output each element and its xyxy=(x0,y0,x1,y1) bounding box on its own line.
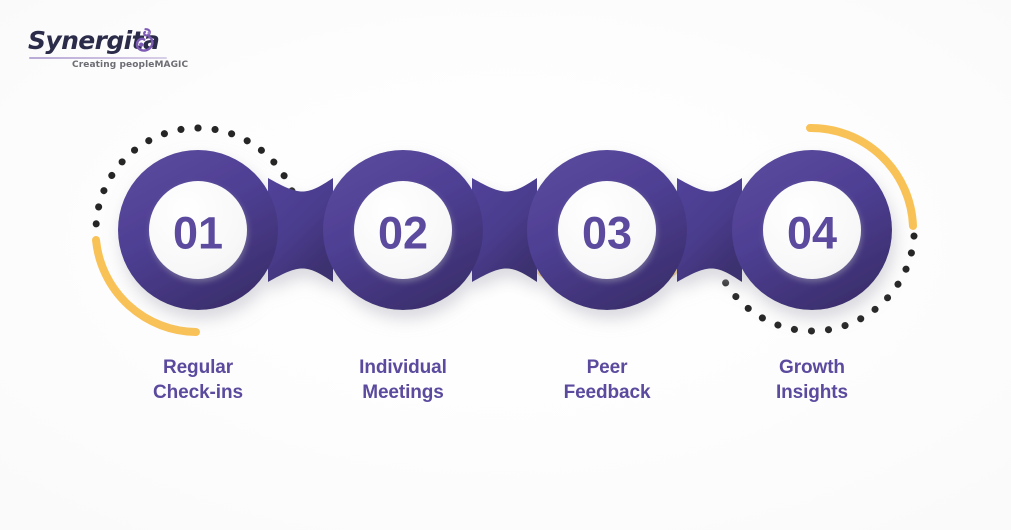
step-label-1-line1: Regular xyxy=(163,357,233,378)
step-label-2-line2: Meetings xyxy=(308,380,498,405)
step-label-2-line1: Individual xyxy=(359,357,447,378)
step-label-2: Individual Meetings xyxy=(308,355,498,405)
step-number-4: 04 xyxy=(787,208,837,259)
step-number-3: 03 xyxy=(582,208,632,259)
step-number-1: 01 xyxy=(173,208,223,259)
step-label-4-line1: Growth xyxy=(779,357,845,378)
step-label-1: Regular Check-ins xyxy=(103,355,293,405)
step-label-3-line1: Peer xyxy=(587,357,628,378)
step-label-4: Growth Insights xyxy=(717,355,907,405)
step-label-1-line2: Check-ins xyxy=(103,380,293,405)
step-label-4-line2: Insights xyxy=(717,380,907,405)
step-label-3: Peer Feedback xyxy=(512,355,702,405)
process-steps-diagram: 01 02 03 04 xyxy=(0,0,1011,530)
step-label-3-line2: Feedback xyxy=(512,380,702,405)
step-number-2: 02 xyxy=(378,208,428,259)
